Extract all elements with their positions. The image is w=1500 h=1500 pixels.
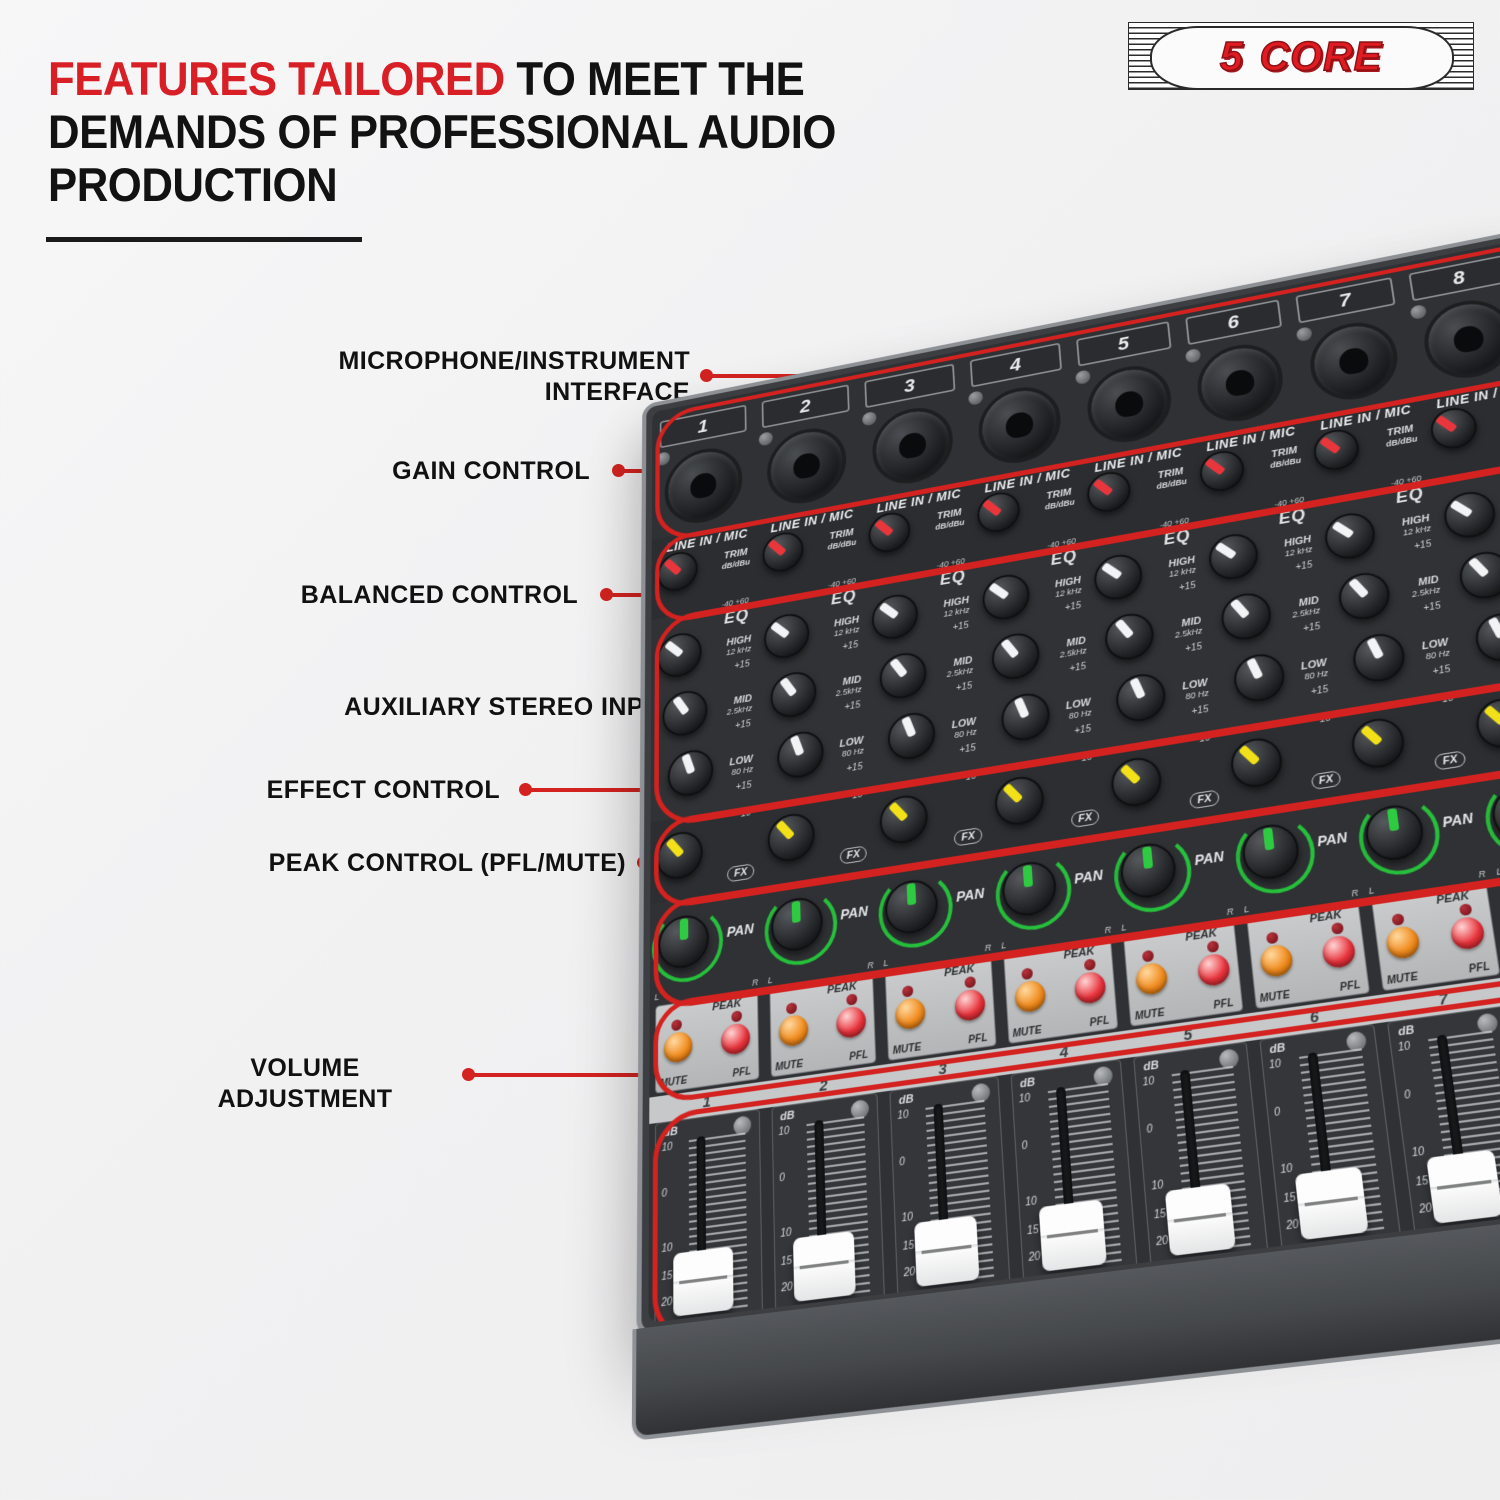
peak-channel: PEAKMUTEPFL [1000, 935, 1122, 1047]
xlr-combo-jack[interactable] [654, 434, 752, 537]
eq-high-label: HIGH12 kHz [726, 635, 751, 658]
fx-knob[interactable] [767, 810, 815, 864]
jack-socket[interactable] [1306, 316, 1403, 407]
fader-unit-label: dB [1269, 1042, 1286, 1057]
mute-label: MUTE [1259, 990, 1290, 1006]
fx-channel: 10FX [875, 768, 988, 868]
eq-low-label: LOW80 Hz [1300, 658, 1328, 682]
fader-cell: dB100101520 [1387, 1006, 1500, 1242]
pan-lr-labels: LR [883, 942, 991, 968]
eq-channel: EQHIGH12 kHz+15MID2.5kHz+15LOW80 Hz+15 [759, 582, 869, 804]
fader-unit-label: dB [780, 1109, 795, 1123]
mute-button[interactable] [1014, 979, 1046, 1014]
mute-label: MUTE [660, 1075, 687, 1090]
fader-ticks [1428, 1030, 1500, 1228]
fader-scale-0: 10 [897, 1110, 909, 1122]
eq-high-boost: +15 [1179, 581, 1196, 594]
fader-scale-2: 10 [1280, 1164, 1293, 1177]
eq-mid-label: MID2.5kHz [1291, 596, 1321, 620]
pan-ring [1111, 831, 1195, 918]
peak-cell: PEAKMUTEPFL [1123, 920, 1243, 1026]
trim-knob[interactable] [1312, 426, 1362, 474]
fader-cap[interactable] [1165, 1183, 1236, 1256]
pfl-button[interactable] [1196, 952, 1230, 987]
pan-lr-labels: LR [1243, 887, 1359, 914]
trim-knob[interactable] [1428, 404, 1480, 452]
fader-slot [1437, 1034, 1466, 1170]
mute-button[interactable] [778, 1014, 808, 1048]
pan-knob[interactable] [1488, 782, 1500, 845]
pan-label: PAN [956, 885, 985, 905]
eq-mid-knob[interactable] [770, 669, 817, 721]
eq-mid-label: MID2.5kHz [1410, 575, 1441, 599]
fader-number-label: 6 [1253, 996, 1377, 1035]
pfl-label: PFL [1213, 998, 1234, 1012]
fx-label: FX [1434, 750, 1466, 770]
eq-high-label: HIGH12 kHz [833, 615, 859, 638]
xlr-combo-jack[interactable] [1294, 307, 1415, 414]
peak-led-icon [731, 1010, 742, 1022]
fader-scale-2: 10 [1151, 1180, 1164, 1193]
pfl-label: PFL [1339, 980, 1361, 994]
fader-cell: dB100101520 [771, 1092, 885, 1318]
eq-high-knob[interactable] [1093, 551, 1144, 603]
pfl-button[interactable] [954, 988, 986, 1023]
fader-scale-3: 15 [1415, 1176, 1429, 1189]
pfl-button[interactable] [1321, 934, 1357, 970]
callout-label-volume-adjustment: VOLUME ADJUSTMENT [160, 1053, 450, 1114]
fader-scale-4: 20 [1156, 1236, 1169, 1249]
eq-low-boost: +15 [1432, 664, 1451, 677]
fader-scale-1: 0 [779, 1173, 785, 1184]
panel-screw-icon [758, 431, 772, 446]
fx-label: FX [727, 863, 753, 882]
fader-cap[interactable] [1294, 1166, 1368, 1240]
eq-high-label: HIGH12 kHz [1054, 576, 1082, 599]
fader-channel-number: 2 [768, 1065, 881, 1107]
eq-low-label: LOW80 Hz [1421, 638, 1450, 662]
fader-channel-number: 7 [1380, 977, 1500, 1022]
pan-label: PAN [1074, 867, 1104, 887]
peak-led-icon [1206, 940, 1219, 953]
eq-high-knob[interactable] [657, 630, 701, 681]
xlr-combo-jack[interactable] [966, 372, 1075, 477]
peak-cell: PEAKMUTEPFL [1246, 902, 1370, 1009]
fader-ticks [1047, 1083, 1122, 1276]
callout-label-balanced-control: BALANCED CONTROL [200, 580, 578, 611]
fader-ticks [806, 1116, 870, 1306]
eq-mid-knob[interactable] [1219, 590, 1273, 644]
fader-number-row: 12345678 [649, 958, 1500, 1124]
eq-high-boost: +15 [1065, 601, 1082, 614]
fader-slot [1055, 1087, 1074, 1220]
panel-screw-icon [1185, 348, 1201, 364]
fader-cap[interactable] [914, 1215, 979, 1287]
fader-scale-1: 0 [899, 1157, 905, 1168]
pan-label: PAN [840, 903, 868, 923]
callout-label-peak-control: PEAK CONTROL (PFL/MUTE) [150, 848, 626, 879]
pfl-button[interactable] [1074, 970, 1107, 1005]
mute-led-icon [1021, 968, 1033, 981]
fx-label: FX [1071, 808, 1100, 828]
fader-scale-2: 10 [901, 1212, 913, 1224]
eq-mid-knob[interactable] [879, 649, 927, 702]
eq-mid-knob[interactable] [1103, 610, 1155, 663]
fader-scale-2: 10 [1025, 1197, 1037, 1209]
eq-high-knob[interactable] [1206, 530, 1259, 583]
fader-scale-3: 15 [902, 1241, 914, 1253]
pan-ring [1354, 792, 1444, 880]
eq-low-knob[interactable] [1000, 690, 1051, 744]
pan-lr-labels: LR [768, 960, 874, 986]
fader-cell: dB100101520 [1010, 1059, 1138, 1289]
mute-led-icon [1265, 932, 1278, 945]
fader-channel: dB100101520 [768, 1092, 888, 1321]
audio-mixer: 12345678 LINE IN / MICTRIMdB/dBu-40 +60L… [612, 250, 1500, 1500]
fx-max-label: 10 [1441, 693, 1454, 705]
pan-channel: PANLR [878, 851, 994, 969]
xlr-combo-jack[interactable] [1183, 329, 1300, 435]
fader-number-label: 7 [1380, 977, 1500, 1017]
page-title: FEATURES TAILORED TO MEET THE DEMANDS OF… [48, 52, 959, 211]
fader-scale-3: 15 [1283, 1193, 1296, 1206]
eq-low-knob[interactable] [1114, 671, 1167, 725]
fader-channel-number: 1 [652, 1082, 762, 1124]
eq-mid-label: MID2.5kHz [1174, 616, 1203, 640]
fx-knob[interactable] [993, 773, 1045, 828]
fader-scale-3: 15 [1027, 1225, 1039, 1238]
eq-title: EQ [724, 606, 749, 628]
eq-high-boost: +15 [1295, 560, 1313, 573]
pan-lr-labels: LR [1368, 868, 1486, 896]
fader-scale-1: 0 [1404, 1090, 1412, 1102]
peak-channel: PEAKMUTEPFL [1242, 898, 1373, 1012]
eq-low-boost: +15 [1191, 704, 1209, 717]
panel-screw-icon [862, 411, 877, 427]
eq-mid-boost: +15 [1069, 662, 1086, 675]
fader-screw-icon [851, 1099, 870, 1120]
eq-high-label: HIGH12 kHz [1168, 556, 1197, 579]
eq-low-boost: +15 [1310, 684, 1328, 697]
fader-channel: dB100101520 [1256, 1023, 1406, 1260]
fader-screw-icon [1345, 1030, 1367, 1052]
panel-screw-icon [1409, 304, 1426, 320]
fader-number-label: 4 [1005, 1031, 1123, 1069]
xlr-combo-jack[interactable] [860, 393, 965, 497]
fader-cell: dB100101520 [1133, 1041, 1269, 1273]
eq-high-knob[interactable] [1441, 488, 1498, 542]
fx-label: FX [954, 827, 982, 847]
mute-label: MUTE [1012, 1025, 1042, 1040]
peak-label: PEAK [1309, 909, 1343, 926]
eq-mid-boost: +15 [735, 719, 751, 731]
eq-mid-boost: +15 [956, 681, 973, 694]
eq-title: EQ [939, 567, 966, 590]
jack-socket[interactable] [1084, 359, 1174, 449]
fader-cap[interactable] [1038, 1199, 1106, 1271]
trim-knob[interactable] [976, 489, 1021, 536]
eq-mid-label: MID2.5kHz [1059, 636, 1087, 659]
fader-scale-4: 20 [1028, 1252, 1040, 1265]
peak-led-icon [1084, 958, 1096, 971]
fader-ticks [1172, 1066, 1252, 1261]
peak-label: PEAK [712, 997, 741, 1013]
fader-scale-4: 20 [1419, 1203, 1433, 1216]
fader-scale-1: 0 [1021, 1141, 1027, 1152]
pfl-label: PFL [733, 1066, 751, 1080]
callout-label-effect-control: EFFECT CONTROL [200, 775, 500, 806]
pan-knob[interactable] [1119, 840, 1178, 902]
peak-label: PEAK [827, 980, 857, 996]
mixer-panel: 12345678 LINE IN / MICTRIMdB/dBu-40 +60L… [648, 242, 1500, 1324]
peak-led-icon [964, 976, 976, 989]
trim-knob[interactable] [868, 509, 911, 555]
fx-knob[interactable] [1228, 735, 1284, 791]
peak-channel: PEAKMUTEPFL [1495, 860, 1500, 976]
eq-high-label: HIGH12 kHz [1401, 514, 1432, 538]
headline-highlight: FEATURES TAILORED [48, 52, 505, 105]
panel-screw-icon [968, 390, 983, 406]
trim-knob[interactable] [1198, 447, 1246, 494]
mute-button[interactable] [1135, 961, 1169, 996]
fader-channel-number: 6 [1253, 996, 1378, 1040]
fx-label: FX [1190, 789, 1220, 809]
eq-channel: EQHIGH12 kHz+15MID2.5kHz+15LOW80 Hz+15 [867, 562, 983, 785]
peak-label: PEAK [1435, 890, 1470, 907]
eq-channel: EQHIGH12 kHz+15MID2.5kHz+15LOW80 Hz+15 [1434, 458, 1500, 689]
pan-channel: PANLR [653, 887, 761, 1004]
pan-lr-labels: LR [1001, 924, 1112, 950]
eq-high-label: HIGH12 kHz [1283, 535, 1313, 558]
fader-ticks [925, 1100, 994, 1292]
fx-channel: 10FX [1223, 710, 1348, 813]
trim-label: TRIMdB/dBu [722, 547, 750, 572]
fader-channel-number: 5 [1128, 1014, 1249, 1058]
trim-label: TRIMdB/dBu [1268, 445, 1301, 471]
panel-screw-icon [1075, 369, 1091, 385]
eq-channel: EQHIGH12 kHz+15MID2.5kHz+15LOW80 Hz+15 [653, 601, 757, 822]
jack-socket[interactable] [767, 422, 848, 510]
mute-button[interactable] [1259, 943, 1294, 978]
eq-low-knob[interactable] [776, 728, 823, 781]
fader-scale-4: 20 [781, 1282, 793, 1294]
eq-channel: EQHIGH12 kHz+15MID2.5kHz+15LOW80 Hz+15 [1201, 501, 1337, 729]
trim-label: TRIMdB/dBu [1384, 423, 1418, 450]
pan-channel: PANLR [1479, 755, 1500, 878]
fx-max-label: 10 [1319, 713, 1332, 725]
pfl-label: PFL [849, 1049, 868, 1063]
eq-low-label: LOW80 Hz [1066, 698, 1092, 721]
fader-scale: 100101520 [1019, 1091, 1050, 1095]
pan-label: PAN [1316, 829, 1348, 849]
pfl-button[interactable] [1448, 915, 1485, 951]
pan-label: PAN [1194, 848, 1225, 868]
eq-low-knob[interactable] [1231, 651, 1286, 706]
eq-low-knob[interactable] [1472, 609, 1500, 665]
eq-mid-knob[interactable] [990, 630, 1040, 683]
eq-low-knob[interactable] [887, 709, 936, 763]
eq-mid-knob[interactable] [1456, 548, 1500, 603]
trim-knob[interactable] [658, 549, 698, 595]
eq-low-label: LOW80 Hz [1182, 678, 1209, 702]
xlr-combo-jack[interactable] [757, 413, 859, 516]
fx-max-label: 10 [1081, 752, 1093, 764]
trim-label: TRIMdB/dBu [1044, 486, 1075, 512]
mute-led-icon [902, 985, 913, 998]
eq-mid-label: MID2.5kHz [727, 694, 753, 717]
peak-label: PEAK [944, 963, 975, 979]
fx-channel: 10FX [1466, 669, 1500, 774]
jack-socket[interactable] [664, 442, 742, 529]
pan-channel: PANLR [993, 833, 1113, 952]
fader-scale-0: 10 [1269, 1059, 1282, 1071]
eq-high-label: HIGH12 kHz [943, 596, 970, 619]
pan-knob[interactable] [1239, 821, 1301, 883]
eq-low-boost: +15 [846, 762, 862, 775]
fx-max-label: 10 [852, 789, 863, 801]
peak-cell: PEAKMUTEPFL [885, 956, 996, 1061]
fader-screw-icon [1476, 1012, 1499, 1034]
fader-scale-0: 10 [1142, 1077, 1155, 1089]
fx-knob[interactable] [879, 792, 929, 847]
title-underline [46, 237, 362, 242]
callout-label-gain-control: GAIN CONTROL [200, 456, 590, 487]
fader-slot [1307, 1052, 1332, 1187]
eq-mid-knob[interactable] [1336, 569, 1392, 623]
fader-unit-label: dB [1020, 1076, 1036, 1091]
fader-screw-icon [1218, 1048, 1239, 1070]
fx-channel: 10FX [1343, 690, 1473, 794]
logo-wordmark: 5 CORE [1128, 22, 1474, 90]
pan-knob[interactable] [658, 912, 709, 972]
fader-channel: dB100101520 [1130, 1041, 1272, 1276]
fx-label: FX [1311, 770, 1342, 790]
mute-label: MUTE [775, 1059, 803, 1074]
fader-slot [1180, 1070, 1202, 1204]
pfl-label: PFL [968, 1032, 988, 1046]
peak-channel: PEAKMUTEPFL [1120, 917, 1247, 1030]
mute-button[interactable] [1385, 925, 1421, 961]
fader-scale: 100101520 [897, 1108, 927, 1112]
fader-scale-4: 20 [904, 1267, 916, 1279]
fader-cell: dB100101520 [889, 1076, 1010, 1304]
pan-channel: PANLR [1111, 814, 1236, 934]
eq-low-knob[interactable] [1350, 630, 1407, 685]
peak-channel: PEAKMUTEPFL [1368, 879, 1500, 994]
jack-socket[interactable] [1419, 293, 1500, 385]
fader-scale-2: 10 [1411, 1147, 1425, 1160]
pan-channel: PANLR [1232, 795, 1362, 916]
eq-high-boost: +15 [953, 621, 969, 633]
eq-low-boost: +15 [959, 743, 976, 756]
pfl-button[interactable] [836, 1005, 866, 1039]
eq-channel: EQHIGH12 kHz+15MID2.5kHz+15LOW80 Hz+15 [1087, 522, 1216, 748]
eq-channel: EQHIGH12 kHz+15MID2.5kHz+15LOW80 Hz+15 [976, 542, 1099, 767]
fader-channel: dB100101520 [886, 1075, 1013, 1306]
fx-max-label: 10 [965, 771, 976, 783]
fader-scale-1: 0 [1146, 1124, 1153, 1136]
fader-number-label: 5 [1128, 1014, 1249, 1053]
eq-low-label: LOW80 Hz [729, 754, 753, 777]
mute-button[interactable] [664, 1030, 693, 1064]
peak-cell: PEAKMUTEPFL [1371, 883, 1500, 991]
mute-led-icon [1391, 913, 1404, 926]
fader-cell: dB100101520 [654, 1109, 762, 1323]
pfl-button[interactable] [720, 1022, 749, 1056]
fader-scale: 100101520 [1269, 1057, 1301, 1061]
pan-ring [993, 849, 1073, 935]
panel-screw-icon [656, 451, 670, 466]
pan-knob[interactable] [770, 894, 823, 954]
fader-channel: dB100101520 [651, 1108, 765, 1323]
pan-channel: PANLR [764, 869, 876, 986]
eq-mid-boost: +15 [844, 700, 860, 713]
jack-socket[interactable] [977, 380, 1064, 469]
fader-scale: 100101520 [1397, 1039, 1430, 1043]
brand-logo: 5 CORE [1128, 22, 1474, 90]
trim-knob[interactable] [762, 529, 804, 575]
fader-channel-number: 3 [885, 1048, 1001, 1091]
eq-high-knob[interactable] [981, 571, 1031, 623]
eq-mid-knob[interactable] [663, 687, 708, 739]
fader-scale-2: 10 [780, 1228, 791, 1240]
fader-scale-2: 10 [661, 1243, 672, 1255]
mute-led-icon [786, 1002, 797, 1015]
eq-mid-label: MID2.5kHz [835, 675, 861, 698]
pan-ring [1232, 812, 1319, 899]
pan-knob[interactable] [1363, 802, 1427, 865]
logo-word: CORE [1260, 33, 1382, 80]
jack-socket[interactable] [1194, 338, 1287, 429]
fader-ticks [1299, 1048, 1385, 1245]
jack-socket[interactable] [871, 401, 955, 490]
pan-lr-labels: LR [1496, 849, 1500, 877]
fader-scale-0: 10 [778, 1126, 789, 1138]
eq-low-boost: +15 [1074, 724, 1091, 737]
eq-title: EQ [1278, 505, 1308, 528]
fader-cell: dB100101520 [1259, 1024, 1402, 1258]
fader-channel: dB100101520 [1384, 1005, 1500, 1244]
fader-scale-0: 10 [1397, 1042, 1411, 1054]
fx-knob[interactable] [657, 829, 703, 883]
pan-knob[interactable] [1000, 858, 1057, 919]
eq-low-knob[interactable] [668, 747, 714, 800]
mute-button[interactable] [895, 996, 926, 1031]
eq-high-knob[interactable] [1322, 509, 1377, 562]
trim-knob[interactable] [1086, 468, 1132, 515]
eq-title: EQ [1394, 484, 1425, 507]
fader-unit-label: dB [1397, 1024, 1415, 1039]
fader-scale: 100101520 [778, 1124, 808, 1128]
fader-slot [697, 1136, 706, 1266]
fader-cap[interactable] [792, 1231, 855, 1302]
eq-high-knob[interactable] [871, 591, 919, 643]
eq-high-knob[interactable] [763, 611, 809, 662]
trim-label: TRIMdB/dBu [934, 507, 964, 533]
fader-cap[interactable] [1426, 1149, 1500, 1223]
fx-channel: 10FX [988, 749, 1105, 850]
eq-low-label: LOW80 Hz [839, 736, 864, 759]
fader-channel-number: 4 [1005, 1031, 1123, 1074]
pan-label: PAN [727, 920, 754, 940]
pfl-label: PFL [1089, 1015, 1109, 1029]
xlr-combo-jack[interactable] [1073, 351, 1186, 457]
eq-low-boost: +15 [736, 780, 752, 793]
pfl-label: PFL [1468, 961, 1490, 976]
eq-title: EQ [831, 586, 857, 609]
pan-label: PAN [1441, 810, 1474, 831]
fader-screw-icon [971, 1082, 990, 1103]
